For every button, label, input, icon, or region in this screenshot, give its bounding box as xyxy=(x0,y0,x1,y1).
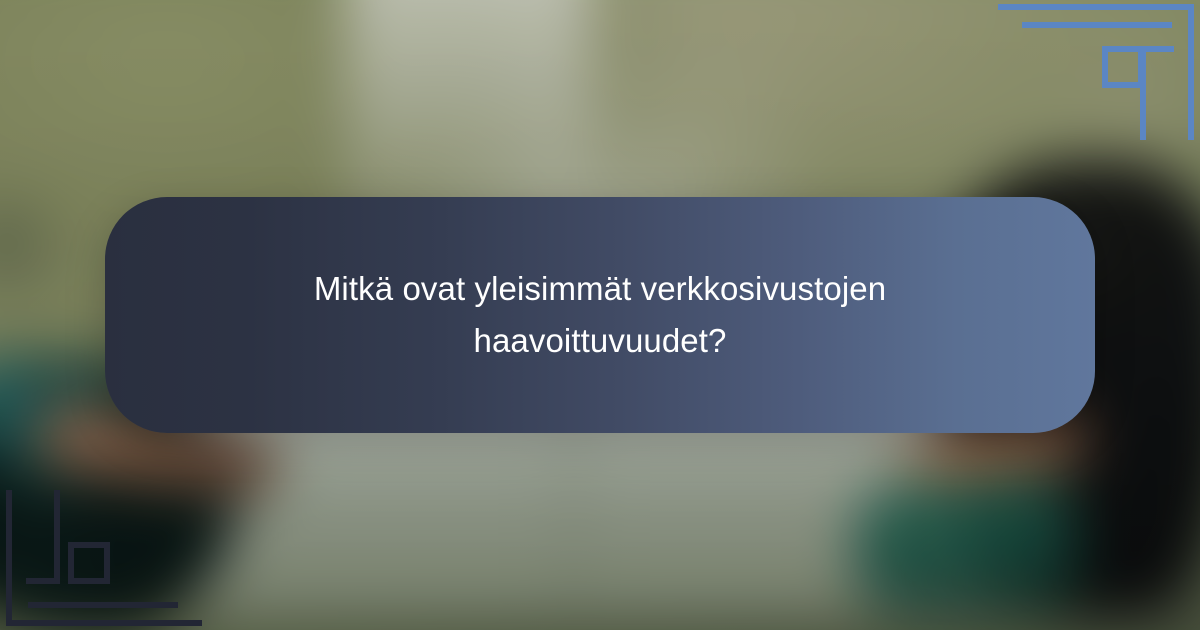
bracket-square-icon xyxy=(1102,46,1144,88)
question-card: Mitkä ovat yleisimmät verkkosivustojen h… xyxy=(105,197,1095,433)
corner-bracket-bottom-left xyxy=(0,490,210,630)
bracket-vertical-outer-icon xyxy=(6,490,12,626)
bracket-vertical-inner-icon xyxy=(54,490,60,584)
bracket-square-icon xyxy=(68,542,110,584)
bracket-square-stem-icon xyxy=(1102,46,1108,52)
question-text: Mitkä ovat yleisimmät verkkosivustojen h… xyxy=(210,263,990,367)
bracket-connector-lower-icon xyxy=(1146,46,1174,52)
bracket-horizontal-inner-icon xyxy=(1022,22,1172,28)
bracket-vertical-outer-icon xyxy=(1188,4,1194,140)
share-card-canvas: Mitkä ovat yleisimmät verkkosivustojen h… xyxy=(0,0,1200,630)
bracket-connector-icon xyxy=(26,578,60,584)
bracket-horizontal-outer-icon xyxy=(998,4,1194,10)
bracket-horizontal-outer-icon xyxy=(6,620,202,626)
corner-bracket-top-right xyxy=(990,0,1200,140)
bracket-horizontal-inner-icon xyxy=(28,602,178,608)
